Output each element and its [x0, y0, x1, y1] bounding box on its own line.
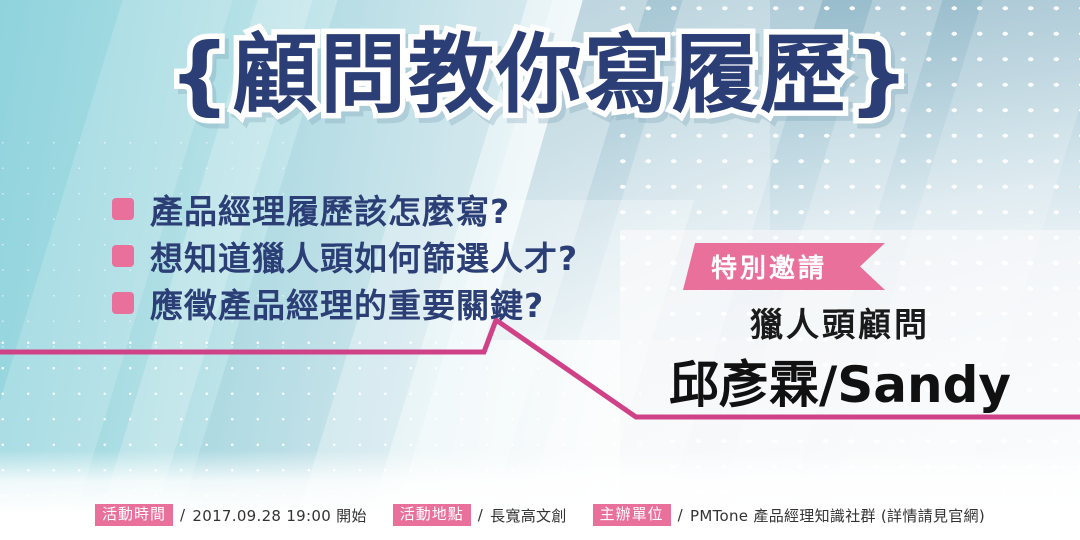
footer-tag-location: 活動地點 [393, 504, 471, 526]
footer-separator: / [478, 506, 483, 524]
speaker-name: 邱彥霖/Sandy [630, 345, 1050, 417]
square-bullet-icon [112, 245, 134, 267]
footer-item-organizer: 主辦單位 / PMTone 產品經理知識社群 (詳情請見官網) [593, 504, 985, 526]
list-item: 產品經理履歷該怎麼寫? [112, 186, 578, 231]
event-banner: {顧問教你寫履歷} 產品經理履歷該怎麼寫? 想知道獵人頭如何篩選人才? 應徵產品… [0, 0, 1080, 540]
footer-item-time: 活動時間 / 2017.09.28 19:00 開始 [95, 504, 367, 526]
square-bullet-icon [112, 292, 134, 314]
bullet-label: 產品經理履歷該怎麼寫? [150, 185, 510, 233]
speaker-role: 獵人頭顧問 [640, 298, 1040, 346]
footer-separator: / [678, 506, 683, 524]
list-item: 想知道獵人頭如何篩選人才? [112, 233, 578, 278]
ribbon-label: 特別邀請 [683, 243, 855, 290]
footer-item-location: 活動地點 / 長寬高文創 [393, 504, 567, 526]
footer-tag-time: 活動時間 [95, 504, 173, 526]
background-bottom-fade [0, 450, 1080, 540]
list-item: 應徵產品經理的重要關鍵? [112, 280, 578, 325]
footer-tag-organizer: 主辦單位 [593, 504, 671, 526]
footer-value-location: 長寬高文創 [490, 505, 567, 526]
bullet-label: 應徵產品經理的重要關鍵? [150, 279, 544, 327]
bullet-label: 想知道獵人頭如何篩選人才? [150, 232, 578, 280]
bullet-list: 產品經理履歷該怎麼寫? 想知道獵人頭如何篩選人才? 應徵產品經理的重要關鍵? [112, 186, 578, 327]
footer-value-time: 2017.09.28 19:00 開始 [192, 505, 366, 526]
footer-info-bar: 活動時間 / 2017.09.28 19:00 開始 活動地點 / 長寬高文創 … [0, 504, 1080, 526]
footer-separator: / [180, 506, 185, 524]
footer-value-organizer: PMTone 產品經理知識社群 (詳情請見官網) [690, 505, 985, 526]
page-title: {顧問教你寫履歷} [0, 26, 1080, 125]
square-bullet-icon [112, 198, 134, 220]
